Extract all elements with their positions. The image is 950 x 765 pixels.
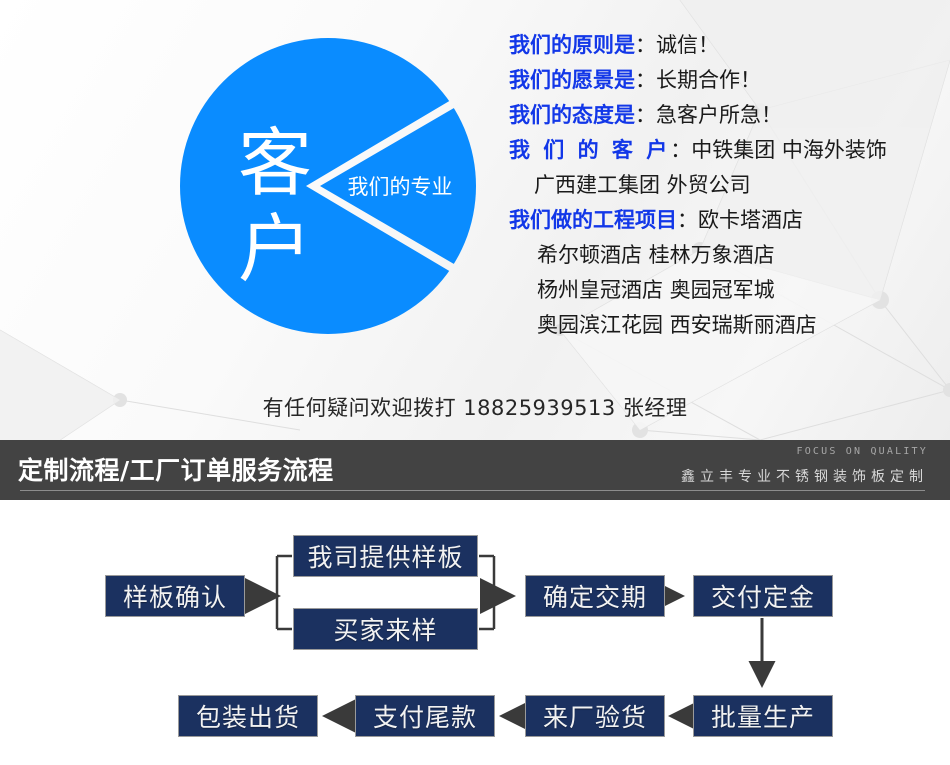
circle-main-label-char1: 客 xyxy=(238,121,312,207)
info-line-value: 奥园滨江花园 西安瑞斯丽酒店 xyxy=(537,313,817,337)
banner-title: 定制流程/工厂订单服务流程 xyxy=(18,451,334,487)
info-line-value: 诚信！ xyxy=(656,33,719,57)
hero-section: 客 户 我们的专业 我们的原则是：诚信！ 我们的愿景是：长期合作！ 我们的态度是… xyxy=(0,0,950,440)
info-line-sep: ： xyxy=(677,208,698,232)
flow-node-pay-balance[interactable]: 支付尾款 xyxy=(355,695,495,737)
info-line-sep: ： xyxy=(670,138,691,162)
info-line: 我们的愿景是：长期合作！ xyxy=(509,63,949,98)
info-line: 希尔顿酒店 桂林万象酒店 xyxy=(509,238,949,273)
info-line-key: 我们的态度是 xyxy=(509,103,635,127)
info-line: 我们的原则是：诚信！ xyxy=(509,28,949,63)
info-line-sep: ： xyxy=(635,33,656,57)
flow-node-pack-and-ship[interactable]: 包装出货 xyxy=(178,695,318,737)
info-line-sep: ： xyxy=(635,68,656,92)
info-line: 奥园滨江花园 西安瑞斯丽酒店 xyxy=(509,308,949,343)
flow-node-sample-confirm[interactable]: 样板确认 xyxy=(105,575,245,617)
customer-circle-graphic: 客 户 我们的专业 xyxy=(178,36,478,336)
process-flowchart: 样板确认 我司提供样板 买家来样 确定交期 交付定金 批量生产 来厂验货 支付尾… xyxy=(0,500,950,765)
info-line-value: 欧卡塔酒店 xyxy=(698,208,803,232)
flow-node-confirm-delivery-date[interactable]: 确定交期 xyxy=(525,575,665,617)
info-line-value: 杨州皇冠酒店 奥园冠军城 xyxy=(537,278,775,302)
info-line-sep: ： xyxy=(635,103,656,127)
flow-node-we-provide-sample[interactable]: 我司提供样板 xyxy=(293,535,478,577)
info-line: 我们做的工程项目：欧卡塔酒店 xyxy=(509,203,949,238)
info-line-key: 我们做的工程项目 xyxy=(509,208,677,232)
banner-english-tagline: FOCUS ON QUALITY xyxy=(796,446,928,457)
section-banner: 定制流程/工厂订单服务流程 FOCUS ON QUALITY 鑫立丰专业不锈钢装… xyxy=(0,440,950,500)
contact-phone-line: 有任何疑问欢迎拨打 18825939513 张经理 xyxy=(0,392,950,422)
info-line: 杨州皇冠酒店 奥园冠军城 xyxy=(509,273,949,308)
info-line-value: 广西建工集团 外贸公司 xyxy=(534,173,751,197)
banner-divider xyxy=(20,490,925,491)
flow-node-buyer-sample[interactable]: 买家来样 xyxy=(293,608,478,650)
info-line-value: 中铁集团 中海外装饰 xyxy=(691,138,887,162)
flow-node-factory-inspection[interactable]: 来厂验货 xyxy=(525,695,665,737)
info-line-value: 长期合作！ xyxy=(656,68,761,92)
circle-main-label-char2: 户 xyxy=(238,207,312,293)
info-line-key: 我们的愿景是 xyxy=(509,68,635,92)
info-line-value: 急客户所急！ xyxy=(656,103,782,127)
company-info-list: 我们的原则是：诚信！ 我们的愿景是：长期合作！ 我们的态度是：急客户所急！ 我 … xyxy=(509,28,949,343)
banner-chinese-tagline: 鑫立丰专业不锈钢装饰板定制 xyxy=(681,466,928,486)
info-line: 我们的态度是：急客户所急！ xyxy=(509,98,949,133)
poster-root: 客 户 我们的专业 我们的原则是：诚信！ 我们的愿景是：长期合作！ 我们的态度是… xyxy=(0,0,950,765)
flow-node-pay-deposit[interactable]: 交付定金 xyxy=(693,575,833,617)
info-line-key: 我们的原则是 xyxy=(509,33,635,57)
info-line: 广西建工集团 外贸公司 xyxy=(509,168,949,203)
info-line-key: 我 们 的 客 户 xyxy=(509,138,670,162)
info-line: 我 们 的 客 户：中铁集团 中海外装饰 xyxy=(509,133,949,168)
circle-wedge-label: 我们的专业 xyxy=(348,175,453,199)
info-line-value: 希尔顿酒店 桂林万象酒店 xyxy=(537,243,775,267)
flow-node-mass-production[interactable]: 批量生产 xyxy=(693,695,833,737)
